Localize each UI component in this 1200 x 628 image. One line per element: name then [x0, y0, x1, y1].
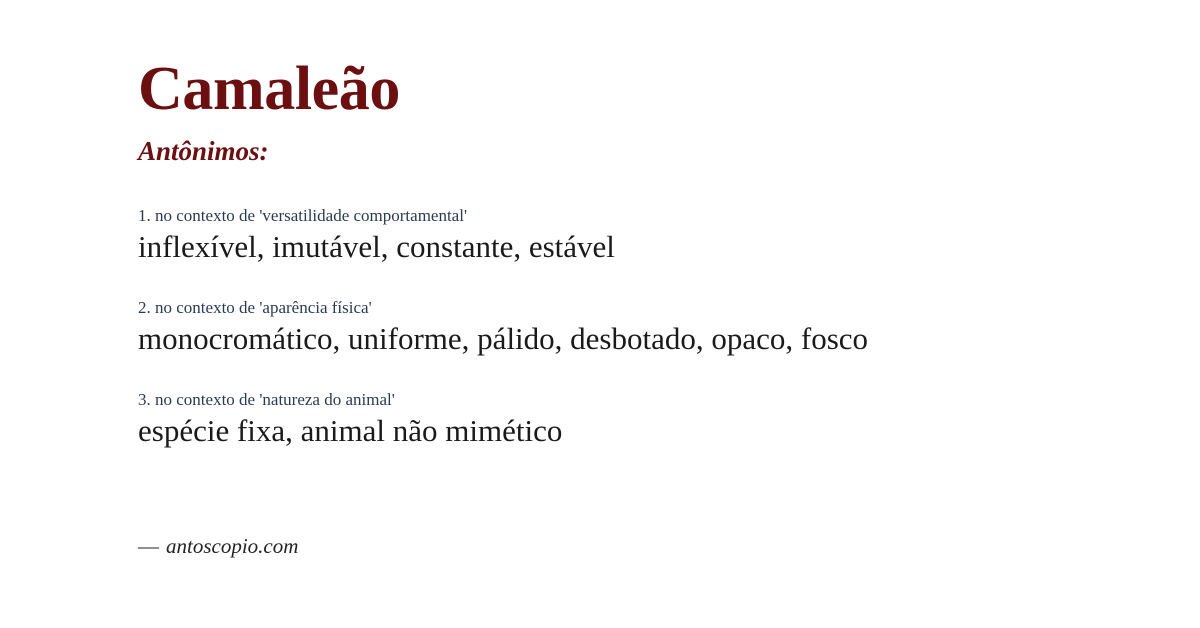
entry-terms-1: inflexível, imutável, constante, estável: [138, 228, 1160, 266]
list-item: 1. no contexto de 'versatilidade comport…: [138, 205, 1160, 266]
antonym-card: Camaleão Antônimos: 1. no contexto de 'v…: [0, 0, 1200, 628]
page-title: Camaleão: [138, 58, 1160, 120]
list-item: 2. no contexto de 'aparência física' mon…: [138, 297, 1160, 358]
source-domain: antoscopio.com: [166, 534, 298, 558]
card-header: Camaleão Antônimos:: [138, 58, 1160, 165]
card-footer: —antoscopio.com: [138, 534, 298, 559]
em-dash-glyph: —: [138, 534, 166, 558]
entry-context-3: 3. no contexto de 'natureza do animal': [138, 389, 1160, 410]
entry-terms-2: monocromático, uniforme, pálido, desbota…: [138, 320, 1160, 358]
section-label-antonyms: Antônimos:: [138, 138, 1160, 165]
entry-terms-3: espécie fixa, animal não mimético: [138, 412, 1160, 450]
entry-context-1: 1. no contexto de 'versatilidade comport…: [138, 205, 1160, 226]
antonym-entry-list: 1. no contexto de 'versatilidade comport…: [138, 205, 1160, 450]
source-credit: —antoscopio.com: [138, 534, 298, 558]
entry-context-2: 2. no contexto de 'aparência física': [138, 297, 1160, 318]
list-item: 3. no contexto de 'natureza do animal' e…: [138, 389, 1160, 450]
